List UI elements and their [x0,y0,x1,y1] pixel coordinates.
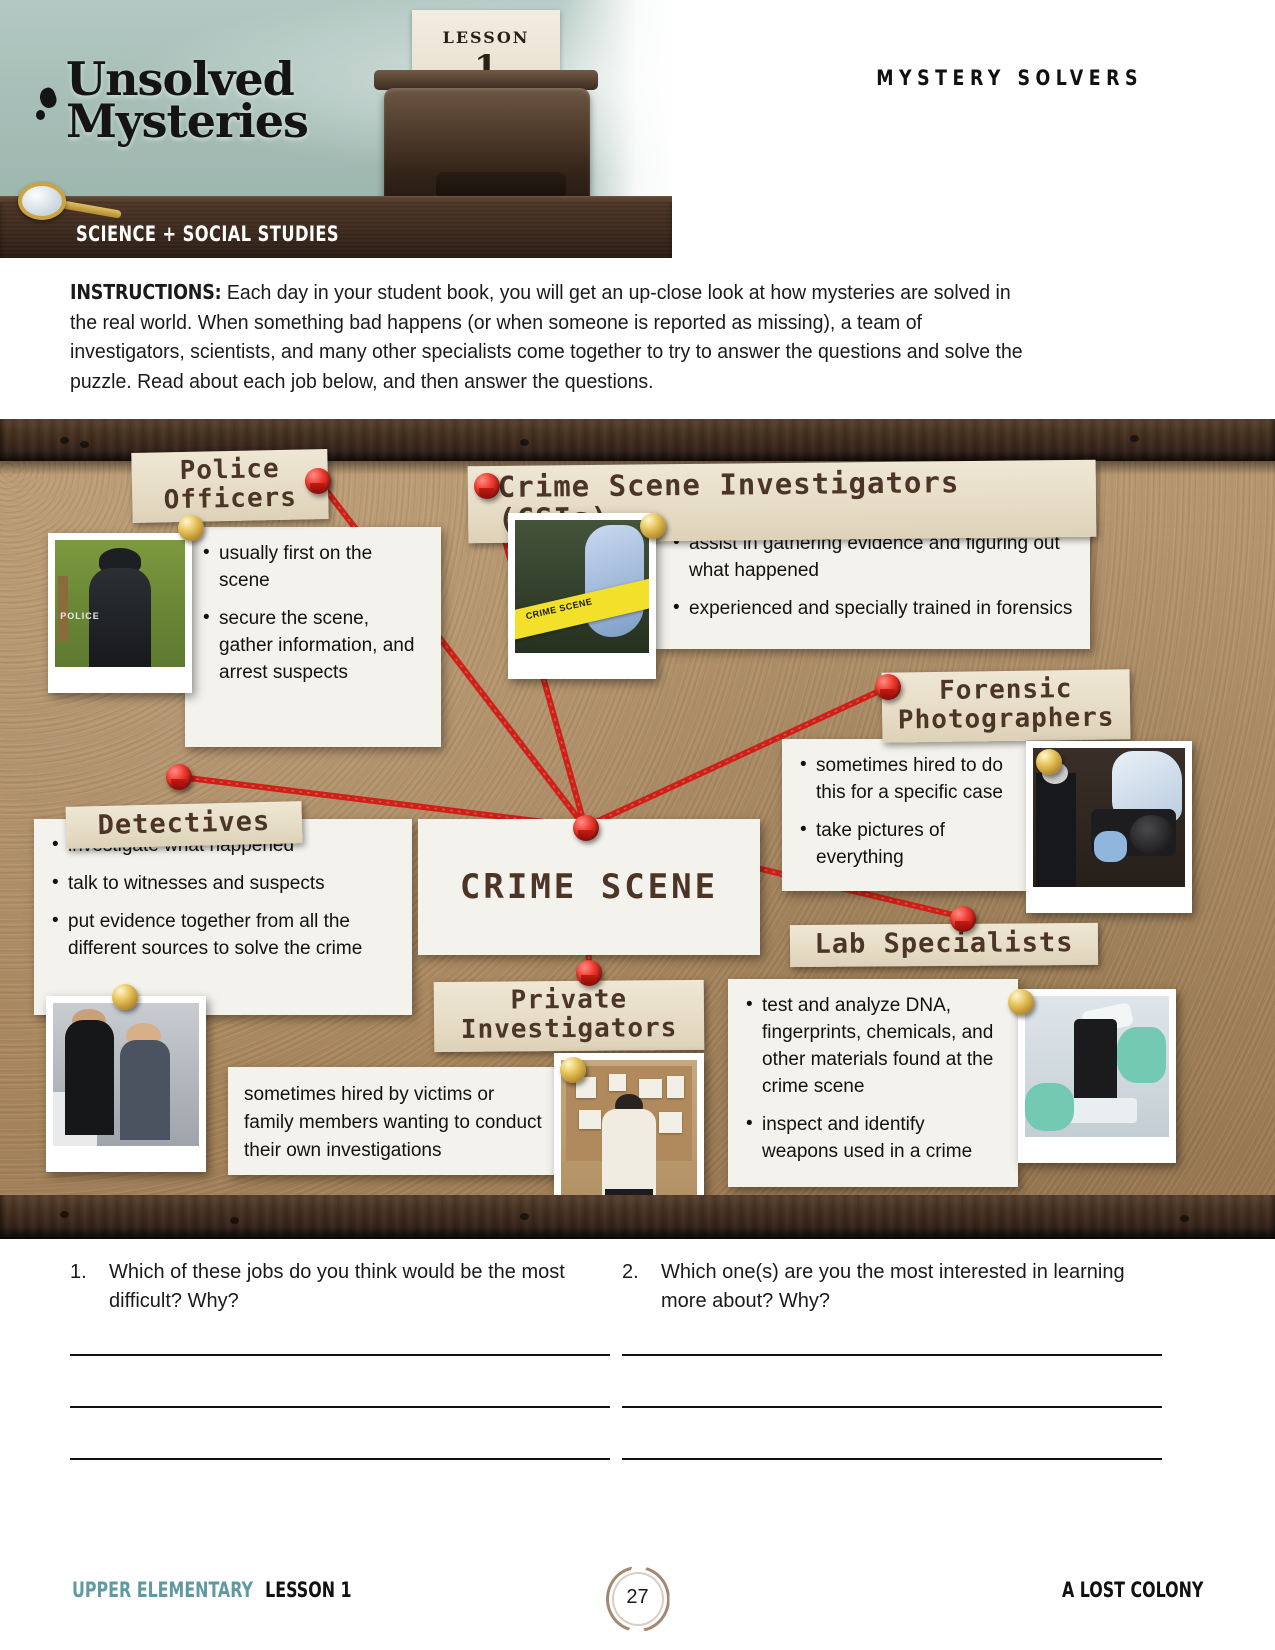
red-pin-icon [576,960,602,986]
question-number: 1. [70,1258,96,1316]
card-title-police-officers: Police Officers [131,449,328,523]
photo-crime-scene-tape: CRIME SCENE [508,513,656,679]
footer-grade: UPPER ELEMENTARY [72,1578,253,1602]
bullet-item: take pictures of everything [816,818,1010,872]
bullet-item: secure the scene, gather information, an… [219,606,425,687]
photo-police-officer: POLICE [48,533,192,693]
question-text: Which one(s) are you the most interested… [661,1258,1162,1316]
answer-line[interactable] [70,1458,610,1460]
question-item-1: 1. Which of these jobs do you think woul… [70,1258,610,1316]
card-title-detectives: Detectives [66,801,303,849]
page-number: 27 [606,1586,670,1609]
subject-bar-label: SCIENCE + SOCIAL STUDIES [76,222,339,246]
card-note-lab-specialists: test and analyze DNA, fingerprints, chem… [728,979,1018,1187]
red-pin-icon [166,764,192,790]
unit-title: MYSTERY SOLVERS [876,66,1143,90]
footer-left: UPPER ELEMENTARY LESSON 1 [72,1578,352,1602]
question-column-left: 1. Which of these jobs do you think woul… [70,1258,610,1316]
gold-pin-icon [560,1057,586,1083]
photo-detectives [46,996,206,1172]
typewriter-body [384,88,590,206]
instructions-paragraph: INSTRUCTIONS: Each day in your student b… [70,278,1030,396]
card-title-private-investigators: Private Investigators [434,980,705,1053]
red-pin-icon [875,674,901,700]
question-number: 2. [622,1258,648,1316]
wood-frame-bottom [0,1195,1275,1239]
corkboard-diagram: usually first on the scene secure the sc… [0,419,1275,1239]
page-number-stamp: 27 [606,1566,670,1632]
bullet-item: experienced and specially trained in for… [689,596,1074,623]
question-item-2: 2. Which one(s) are you the most interes… [622,1258,1162,1316]
red-pin-icon-center [573,815,599,841]
answer-line[interactable] [70,1354,610,1356]
gold-pin-icon [1008,989,1034,1015]
ink-blot-small-icon [36,110,45,120]
center-label-text: CRIME SCENE [460,867,718,907]
magnifying-glass-icon [18,182,128,222]
red-pin-icon [474,473,500,499]
answer-lines-left[interactable] [70,1354,610,1510]
header-banner: LESSON 1 Unsolved Mysteries SCIENCE + SO… [0,0,672,258]
red-pin-icon [950,906,976,932]
bullet-item: test and analyze DNA, fingerprints, chem… [762,993,1002,1101]
gold-pin-icon [1036,749,1062,775]
instructions-label: INSTRUCTIONS: [70,280,222,304]
question-text: Which of these jobs do you think would b… [109,1258,610,1316]
bullet-item: inspect and identify weapons used in a c… [762,1112,1002,1166]
bullet-item: put evidence together from all the diffe… [68,909,396,963]
bullet-item: talk to witnesses and suspects [68,871,396,898]
gold-pin-icon [640,513,666,539]
lesson-label: LESSON [412,28,560,47]
note-paragraph: sometimes hired by victims or family mem… [244,1081,542,1165]
red-pin-icon [305,468,331,494]
answer-line[interactable] [622,1406,1162,1408]
footer-unit: A LOST COLONY [1062,1578,1203,1602]
program-title-line2: Mysteries [66,100,386,142]
answer-line[interactable] [622,1458,1162,1460]
bullet-item: sometimes hired to do this for a specifi… [816,753,1010,807]
bullet-item: usually first on the scene [219,541,425,595]
page-footer: UPPER ELEMENTARY LESSON 1 27 A LOST COLO… [0,1578,1275,1626]
gold-pin-icon [112,984,138,1010]
question-column-right: 2. Which one(s) are you the most interes… [622,1258,1162,1316]
card-note-forensic-photographers: sometimes hired to do this for a specifi… [782,739,1026,891]
typewriter-carriage [374,70,598,90]
card-note-private-investigators: sometimes hired by victims or family mem… [228,1067,558,1175]
answer-line[interactable] [622,1354,1162,1356]
card-note-police-officers: usually first on the scene secure the sc… [185,527,441,747]
footer-lesson: LESSON 1 [265,1578,351,1602]
photo-lab-microscope [1018,989,1176,1163]
answer-lines-right[interactable] [622,1354,1162,1510]
gold-pin-icon [178,515,204,541]
program-title: Unsolved Mysteries [66,58,386,143]
card-title-lab-specialists: Lab Specialists [790,923,1098,967]
card-title-forensic-photographers: Forensic Photographers [882,669,1131,743]
answer-line[interactable] [70,1406,610,1408]
typewriter-illustration: LESSON 1 [370,10,600,210]
